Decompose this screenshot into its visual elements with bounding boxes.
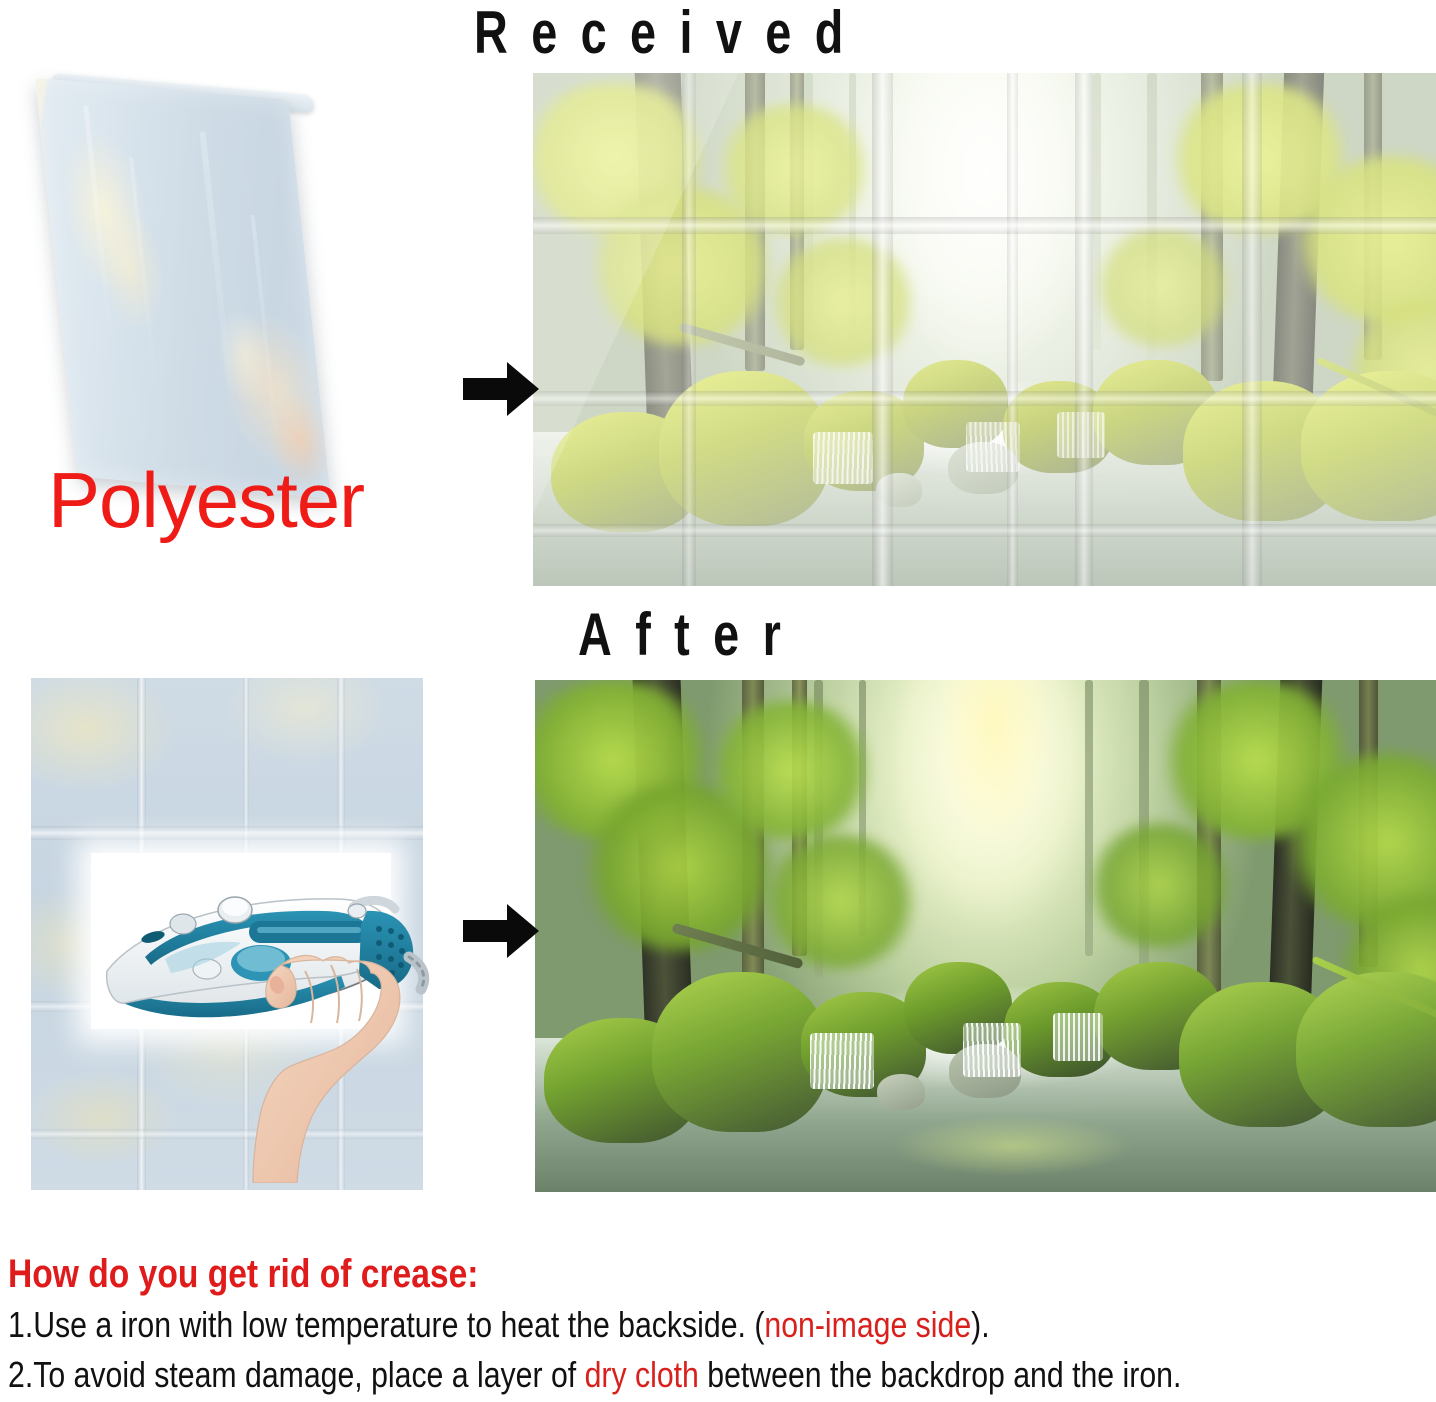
fabric-roll-body bbox=[35, 78, 331, 498]
line1-prefix: 1.Use a iron with low temperature to hea… bbox=[8, 1304, 764, 1345]
after-heading: After bbox=[578, 600, 804, 669]
line1-highlight: non-image side bbox=[764, 1304, 971, 1345]
care-instructions: How do you get rid of crease: 1.Use a ir… bbox=[8, 1252, 1432, 1398]
polyester-label: Polyester bbox=[48, 455, 364, 546]
infographic-stage: Received Polyester bbox=[0, 0, 1436, 1402]
instruction-line-2: 2.To avoid steam damage, place a layer o… bbox=[8, 1353, 1204, 1398]
instructions-title: How do you get rid of crease: bbox=[8, 1252, 1204, 1297]
line1-suffix: ). bbox=[971, 1304, 989, 1345]
after-backdrop-photo bbox=[535, 680, 1436, 1192]
line2-highlight: dry cloth bbox=[585, 1354, 699, 1395]
right-arrow-icon bbox=[463, 900, 539, 962]
faded-wash bbox=[533, 73, 1436, 586]
iron-and-hand-illustration bbox=[91, 853, 431, 1183]
received-backdrop-photo bbox=[533, 73, 1436, 586]
fabric-roll-image bbox=[14, 78, 434, 498]
forest-scene-smooth bbox=[535, 680, 1436, 1192]
instruction-line-1: 1.Use a iron with low temperature to hea… bbox=[8, 1303, 1204, 1348]
clothes-iron-icon bbox=[107, 897, 424, 1017]
right-arrow-icon bbox=[463, 358, 539, 420]
line2-prefix: 2.To avoid steam damage, place a layer o… bbox=[8, 1354, 585, 1395]
received-heading: Received bbox=[474, 0, 867, 67]
line2-suffix: between the backdrop and the iron. bbox=[699, 1354, 1182, 1395]
